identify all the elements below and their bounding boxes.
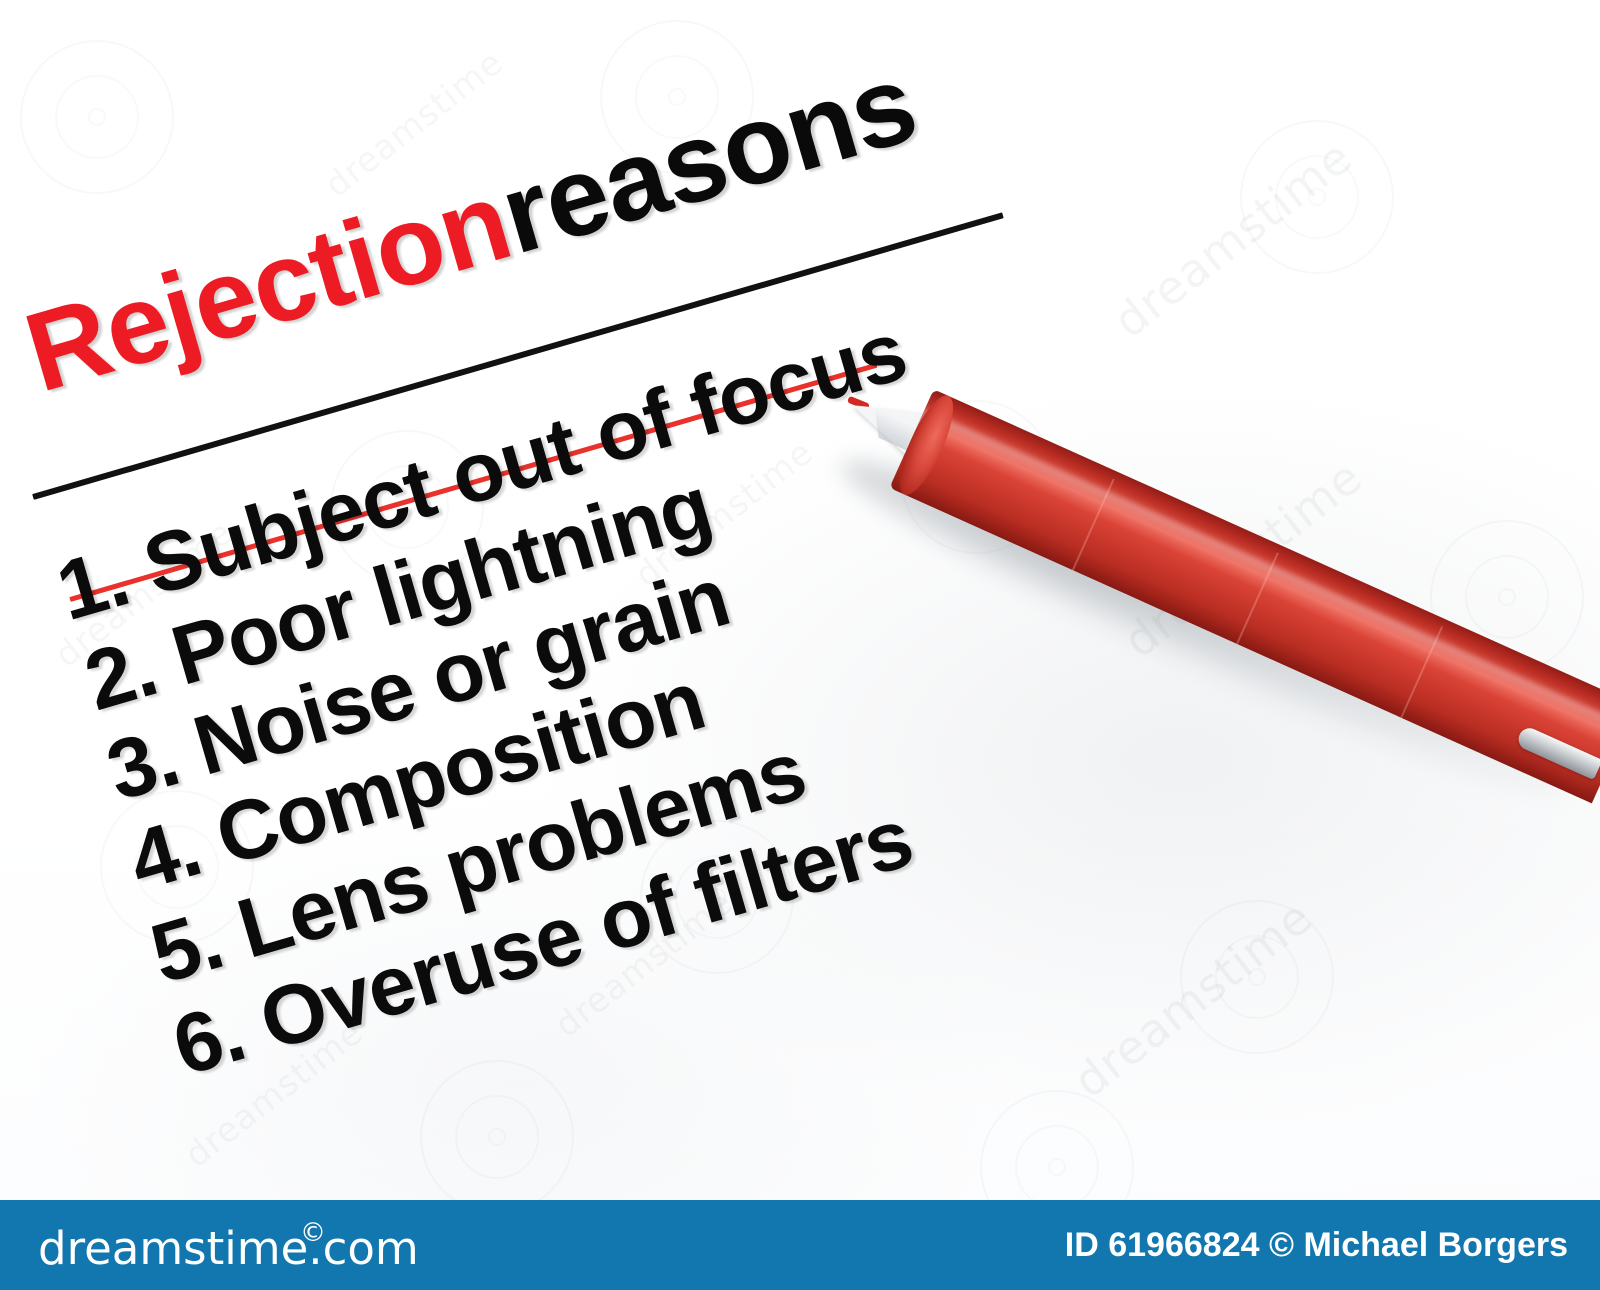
dreamstime-logo: dreamstime.com: [38, 1222, 419, 1275]
image-id-and-credit-text: ID 61966824 © Michael Borgers: [1065, 1226, 1568, 1265]
list-item-number: 4.: [119, 799, 211, 908]
pen-seam: [1399, 626, 1443, 722]
pen-seam: [1070, 479, 1114, 575]
stock-footer-banner: dreamstime.com © ID 61966824 © Michael B…: [0, 1200, 1600, 1290]
registered-mark-icon: ©: [300, 1218, 326, 1248]
pen-seam: [1234, 552, 1278, 648]
list-item-number: 6.: [163, 984, 255, 1093]
pen-clip-icon: [1515, 725, 1600, 780]
screenshot-root: dreamstime dreamstime dreamstime dreamst…: [0, 0, 1600, 1290]
title-word-reasons: reasons: [490, 46, 927, 271]
